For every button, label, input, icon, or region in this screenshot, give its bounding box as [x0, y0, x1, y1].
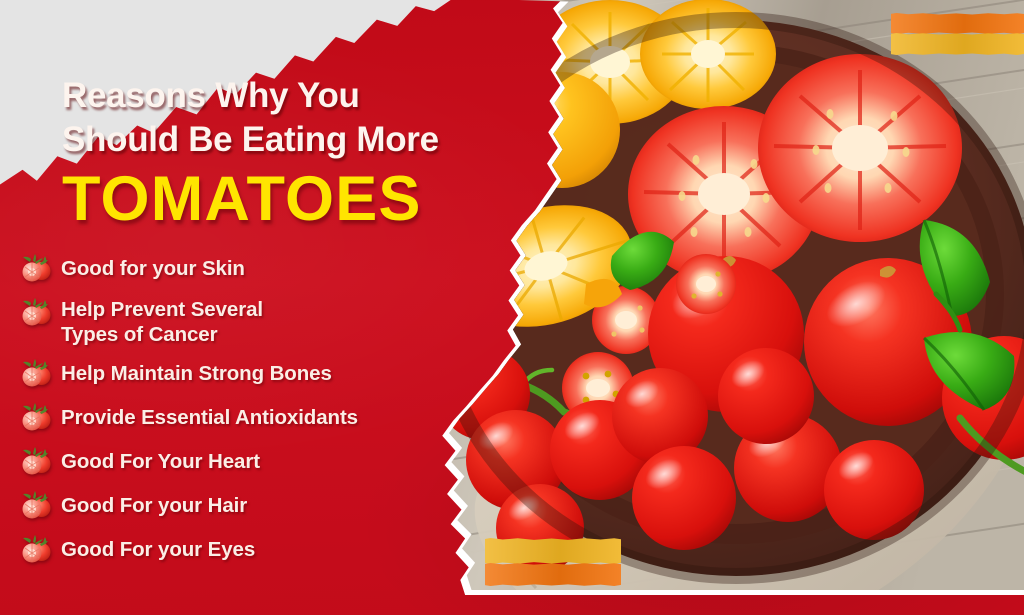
tomato-cluster-icon: Good For your Eyes [22, 533, 442, 567]
headline-line-2: Should Be Eating More [62, 118, 492, 162]
tomato-cluster-icon: Provide Essential Antioxidants [22, 401, 442, 435]
tomato-cluster-icon [22, 403, 52, 431]
list-item-label: Good For your Hair [61, 489, 247, 518]
washi-tape-top-right [891, 13, 1024, 55]
infographic-poster: Reasons Why You Should Be Eating More TO… [0, 0, 1024, 615]
washi-tape-bottom-left [485, 538, 621, 586]
list-item-label: Good For your Eyes [61, 533, 255, 562]
page-title: Reasons Why You Should Be Eating More TO… [62, 74, 492, 231]
headline-line-1: Reasons Why You [62, 74, 492, 118]
tomato-cluster-icon: Good For Your Heart [22, 445, 442, 479]
tomato-cluster-icon: Good for your Skin [22, 252, 442, 286]
list-item-label: Help Prevent SeveralTypes of Cancer [61, 296, 263, 347]
tape-strip-yellow [485, 538, 621, 564]
headline-emphasis: TOMATOES [62, 168, 492, 231]
tomato-cluster-icon: Good For your Hair [22, 489, 442, 523]
tomato-cluster-icon [22, 298, 52, 326]
tape-strip-orange [891, 13, 1024, 34]
list-item-label: Help Maintain Strong Bones [61, 357, 332, 386]
tomato-cluster-icon: Help Maintain Strong Bones [22, 357, 442, 391]
list-item-label: Good For Your Heart [61, 445, 260, 474]
list-item-label: Good for your Skin [61, 252, 245, 281]
tape-strip-orange [485, 563, 621, 586]
benefits-list: Good for your Skin [22, 252, 442, 577]
tomato-cluster-icon [22, 447, 52, 475]
tape-strip-yellow [891, 33, 1024, 55]
tomato-cluster-icon [22, 491, 52, 519]
tomato-cluster-icon: Help Prevent SeveralTypes of Cancer [22, 296, 442, 347]
tomato-cluster-icon [22, 254, 52, 282]
tomato-cluster-icon [22, 535, 52, 563]
list-item-label: Provide Essential Antioxidants [61, 401, 358, 430]
tomato-cluster-icon [22, 359, 52, 387]
